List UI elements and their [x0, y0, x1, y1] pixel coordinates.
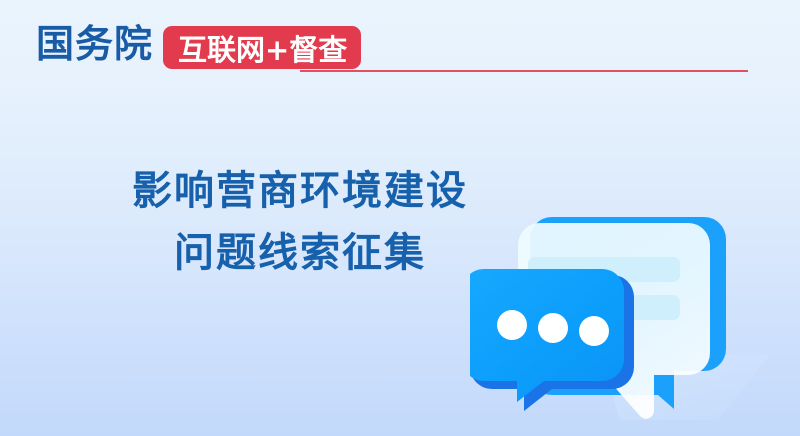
dot-2: [538, 313, 568, 343]
banner-root: 国务院 互联网+督查 影响营商环境建设 问题线索征集: [0, 0, 800, 436]
banner-header: 国务院 互联网+督查: [0, 0, 800, 90]
gov-org-title: 国务院: [36, 22, 153, 66]
dot-3: [579, 316, 609, 346]
dot-1: [497, 310, 527, 340]
internet-plus-supervision-badge: 互联网+督查: [163, 26, 361, 69]
speech-bubbles-illustration: [470, 205, 800, 436]
page-title: 影响营商环境建设 问题线索征集: [60, 160, 540, 284]
header-divider-rule: [300, 70, 748, 72]
page-title-line-2: 问题线索征集: [60, 222, 540, 284]
page-title-line-1: 影响营商环境建设: [60, 160, 540, 222]
